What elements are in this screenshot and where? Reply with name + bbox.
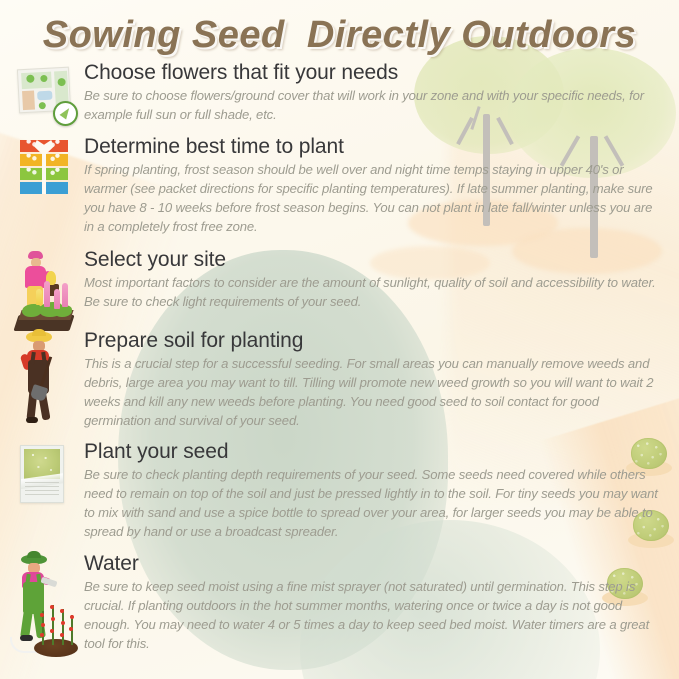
four-seasons-tree-icon [14,136,76,198]
foxglove-spike [54,289,60,309]
step-heading: Select your site [84,249,661,272]
step-description: If spring planting, frost season should … [84,160,661,237]
plan-bed [22,91,35,111]
step-icon-slot [14,62,80,124]
gardener-with-shovel-icon [14,330,76,426]
step-description: Be sure to choose flowers/ground cover t… [84,86,661,124]
step-icon-slot [14,330,80,426]
step-body: Prepare soil for planting This is a cruc… [80,330,661,431]
red-flower [70,615,74,619]
step-heading: Determine best time to plant [84,136,661,159]
step-select-site: Select your site Most important factors … [14,249,661,331]
worker-boot [26,417,38,423]
step-icon-slot [14,249,80,331]
step-body: Choose flowers that fit your needs Be su… [80,62,661,124]
red-flower [60,609,64,613]
flower-stem [62,609,64,645]
hat-crown [27,551,41,558]
red-flower [60,633,64,637]
red-flower [40,613,44,617]
step-heading: Choose flowers that fit your needs [84,62,661,85]
foxglove-spike [62,283,68,307]
seed-packet [20,445,64,503]
step-description: Most important factors to consider are t… [84,273,661,311]
red-flower [69,627,73,631]
step-plant-seed: Plant your seed Be sure to check plantin… [14,441,661,542]
step-water: Water Be sure to keep seed moist using a… [14,553,661,657]
red-flower [50,629,54,633]
flower-stem [52,605,54,645]
step-heading: Water [84,553,661,576]
step-body: Determine best time to plant If spring p… [80,136,661,237]
seed-packet-icon [14,441,76,511]
red-flower [40,633,44,637]
season-tree-silhouette [37,140,51,194]
plan-lawn [21,72,52,90]
page-title: Sowing Seed Directly Outdoors [0,14,679,57]
step-body: Select your site Most important factors … [80,249,661,311]
red-flower [41,623,45,627]
compass-icon [53,101,78,126]
red-flower [50,605,54,609]
hat-crown [32,329,46,336]
step-icon-slot [14,441,80,511]
plan-water [37,91,52,101]
step-description: Be sure to check planting depth requirem… [84,465,661,542]
gardener-with-flowers-icon [14,249,76,331]
step-description: Be sure to keep seed moist using a fine … [84,577,661,654]
plan-shrub [39,102,46,109]
infographic-poster: Sowing Seed Directly Outdoors [0,0,679,679]
garden-plan-compass-icon [14,62,76,124]
foxglove-spike-yellow [36,289,42,305]
step-description: This is a crucial step for a successful … [84,354,661,431]
step-icon-slot [14,136,80,198]
gardener-watering-icon [14,553,76,657]
step-body: Plant your seed Be sure to check plantin… [80,441,661,542]
step-body: Water Be sure to keep seed moist using a… [80,553,661,654]
foxglove-spike [44,281,50,307]
red-flower [51,617,55,621]
step-heading: Prepare soil for planting [84,330,661,353]
step-icon-slot [14,553,80,657]
season-bands [20,140,68,194]
red-flower [61,621,65,625]
step-choose-flowers: Choose flowers that fit your needs Be su… [14,62,661,124]
content-layer: Sowing Seed Directly Outdoors [0,0,679,679]
step-determine-time: Determine best time to plant If spring p… [14,136,661,237]
step-prepare-soil: Prepare soil for planting This is a cruc… [14,330,661,431]
packet-instructions-text [25,482,59,498]
step-heading: Plant your seed [84,441,661,464]
